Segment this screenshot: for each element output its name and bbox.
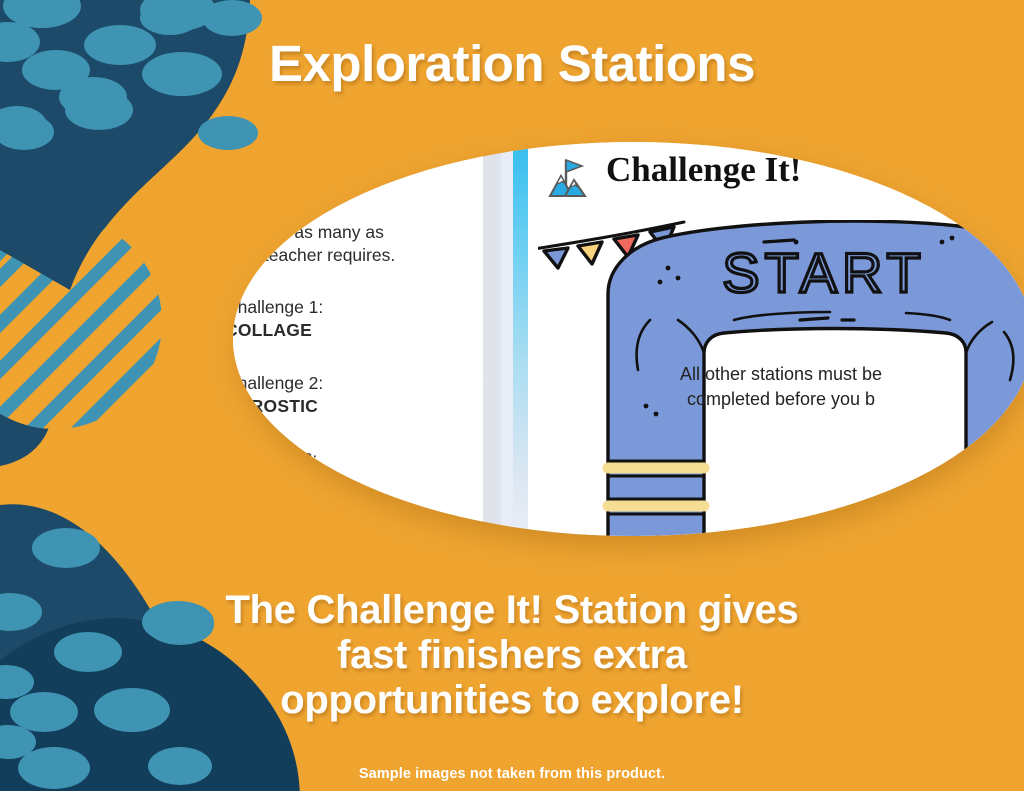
striped-circle	[0, 70, 235, 660]
footnote-disclaimer: Sample images not taken from this produc…	[0, 766, 1024, 782]
left-slide-line-1: e next slides.	[257, 170, 359, 191]
start-label: START	[722, 241, 925, 304]
slide-gap-shadow	[483, 142, 501, 536]
slide-gap-light	[501, 142, 513, 536]
challenge-1-value: COLLAGE	[233, 320, 312, 341]
challenge-2-label: Challenge 2:	[233, 373, 323, 394]
challenge-3-label: Challenge 3:	[233, 449, 317, 470]
left-slide-line-2: mplete as many as	[237, 222, 384, 243]
headline-line-2: fast finishers extra	[0, 633, 1024, 678]
headline-line-1: The Challenge It! Station gives	[0, 588, 1024, 633]
arch-note-text: All other stations must be completed bef…	[666, 362, 896, 412]
challenge-1-label: Challenge 1:	[233, 297, 323, 318]
mountain-flag-icon	[545, 154, 593, 202]
headline-line-3: opportunities to explore!	[0, 678, 1024, 723]
cyan-accent-stripe	[513, 142, 528, 536]
challenge-it-heading: Challenge It!	[606, 150, 801, 190]
challenge-3-value-1: ESIGN AN	[233, 472, 301, 493]
oval-image-frame[interactable]: e next slides. mplete as many as your te…	[233, 142, 1024, 536]
challenge-3-value-2: PERIMENT	[233, 494, 301, 515]
right-slide-preview: Challenge It!	[528, 142, 1024, 536]
challenge-2-value: ACROSTIC	[233, 396, 318, 417]
page-title: Exploration Stations	[0, 34, 1024, 93]
left-slide-line-3: your teacher requires.	[233, 245, 395, 266]
poster-canvas: Exploration Stations e next slides. mple…	[0, 0, 1024, 791]
left-slide-preview: e next slides. mplete as many as your te…	[233, 142, 483, 536]
slide-pair: e next slides. mplete as many as your te…	[233, 142, 1024, 536]
headline: The Challenge It! Station gives fast fin…	[0, 588, 1024, 724]
